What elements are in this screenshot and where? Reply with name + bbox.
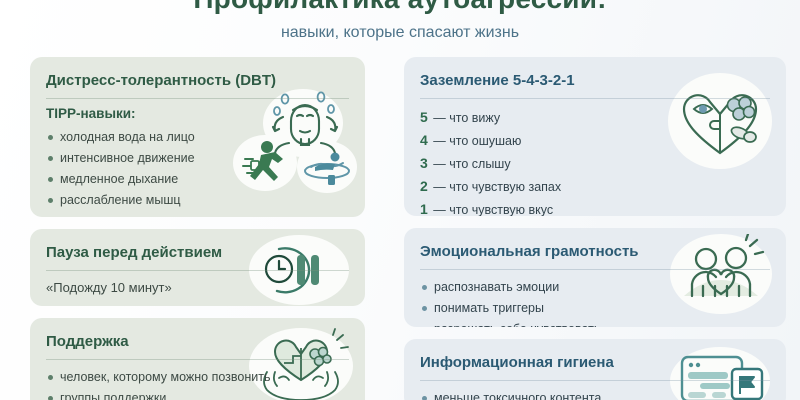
card-title: Эмоциональная грамотность (420, 242, 770, 270)
step-number: 5 (420, 109, 428, 125)
grounding-step-list: 5 — что вижу 4 — что ошушаю 3 — что слыш… (420, 106, 770, 216)
list-item: 2 — что чувствую запах (420, 175, 770, 198)
list-item: медленное дыхание (46, 169, 349, 190)
infographic-page: Профилактика аутоагрессии: навыки, котор… (0, 0, 800, 400)
list-item: группы поддержки (46, 388, 349, 400)
support-bullet-list: человек, которому можно позвонить группы… (46, 367, 349, 400)
emotional-literacy-bullet-list: распознавать эмоции понимать триггеры ра… (420, 277, 770, 327)
list-item: распознавать эмоции (420, 277, 770, 298)
list-item: 3 — что слышу (420, 152, 770, 175)
step-number: 1 (420, 201, 428, 216)
list-item: понимать триггеры (420, 298, 770, 319)
list-item: меньше токсичного контента (420, 388, 770, 400)
header: Профилактика аутоагрессии: навыки, котор… (0, 0, 800, 44)
pause-quote: «Подожду 10 минут» (46, 278, 349, 298)
page-title: Профилактика аутоагрессии: (0, 0, 800, 16)
card-distress-tolerance[interactable]: Дистресс-толерантность (DBT) TIPP-навыки… (30, 57, 365, 217)
list-item: 5 — что вижу (420, 106, 770, 129)
right-column: Заземление 5-4-3-2-1 5 — что вижу 4 — чт… (404, 57, 786, 400)
card-title: Информационная гигиена (420, 353, 770, 381)
card-title: Пауза перед действием (46, 243, 349, 271)
step-text: — что вижу (433, 111, 500, 125)
step-text: — что ошушаю (433, 134, 521, 148)
card-title: Заземление 5-4-3-2-1 (420, 71, 770, 99)
card-support[interactable]: Поддержка человек, которому можно позвон… (30, 318, 365, 400)
step-text: — что чувствую запах (433, 180, 561, 194)
step-number: 2 (420, 178, 428, 194)
list-item: 1 — что чувствую вкус (420, 198, 770, 216)
tipp-skills-label: TIPP-навыки: (46, 106, 349, 121)
card-emotional-literacy[interactable]: Эмоциональная грамотность распознавать э… (404, 228, 786, 327)
step-number: 3 (420, 155, 428, 171)
list-item: человек, которому можно позвонить (46, 367, 349, 388)
list-item: разрешать себе чувствовать (420, 319, 770, 327)
left-column: Дистресс-толерантность (DBT) TIPP-навыки… (30, 57, 365, 400)
distress-bullet-list: холодная вода на лицо интенсивное движен… (46, 127, 349, 211)
list-item: интенсивное движение (46, 148, 349, 169)
page-subtitle: навыки, которые спасают жизнь (0, 22, 800, 44)
card-grounding[interactable]: Заземление 5-4-3-2-1 5 — что вижу 4 — чт… (404, 57, 786, 216)
list-item: холодная вода на лицо (46, 127, 349, 148)
step-text: — что слышу (433, 157, 510, 171)
step-text: — что чувствую вкус (433, 203, 553, 216)
step-number: 4 (420, 132, 428, 148)
card-title: Поддержка (46, 332, 349, 360)
card-information-hygiene[interactable]: Информационная гигиена меньше токсичного… (404, 339, 786, 400)
information-hygiene-bullet-list: меньше токсичного контента (420, 388, 770, 400)
list-item: 4 — что ошушаю (420, 129, 770, 152)
card-title: Дистресс-толерантность (DBT) (46, 71, 349, 99)
card-pause-before-action[interactable]: Пауза перед действием «Подожду 10 минут» (30, 229, 365, 306)
list-item: расслабление мышц (46, 190, 349, 211)
